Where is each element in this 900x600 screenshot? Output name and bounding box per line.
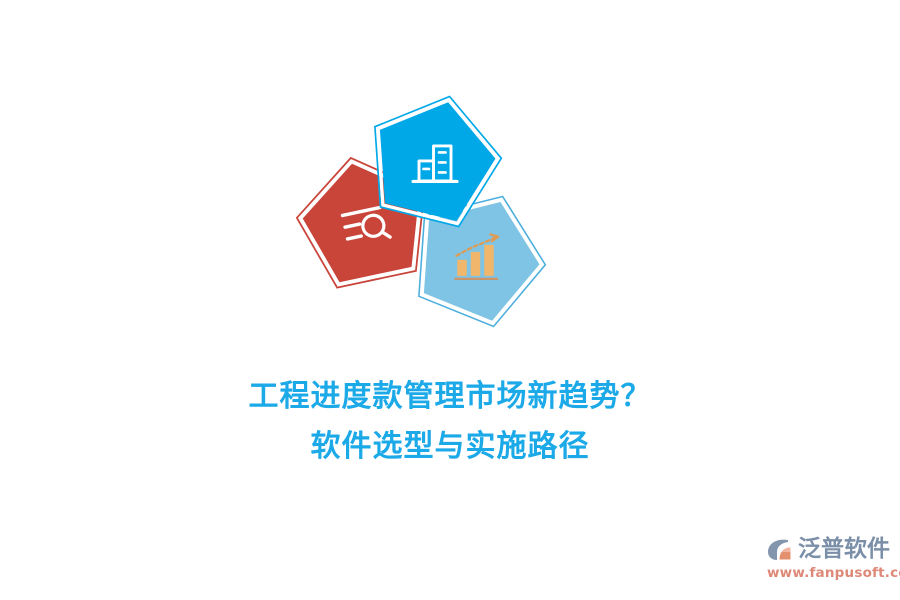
brand-watermark: 泛普软件 www.fanpusoft.com bbox=[766, 533, 894, 585]
brand-row: 泛普软件 bbox=[766, 533, 894, 565]
title-line-1: 工程进度款管理市场新趋势？ bbox=[0, 378, 900, 416]
slide-canvas: 工程进度款管理市场新趋势？ 软件选型与实施路径 泛普软件 www.fanpuso… bbox=[0, 0, 900, 600]
brand-url: www.fanpusoft.com bbox=[766, 565, 894, 581]
fanpu-swoosh-logo-icon bbox=[766, 535, 796, 563]
title-line-2: 软件选型与实施路径 bbox=[0, 428, 900, 466]
brand-name: 泛普软件 bbox=[798, 535, 890, 563]
pentagon-cluster-graphic bbox=[286, 80, 556, 330]
page-title: 工程进度款管理市场新趋势？ 软件选型与实施路径 bbox=[0, 378, 900, 467]
